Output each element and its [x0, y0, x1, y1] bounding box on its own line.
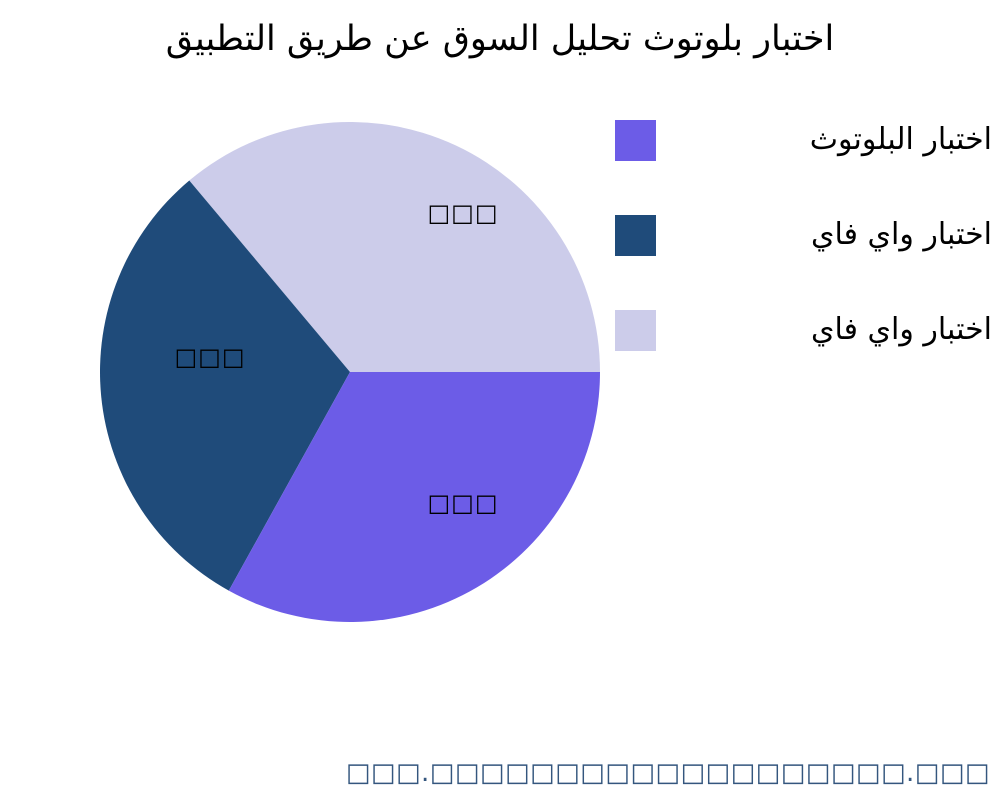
- legend-swatch-icon-0: [615, 120, 656, 161]
- legend-label-1: اختبار واي فاي: [674, 207, 992, 263]
- legend-item-1[interactable]: اختبار واي فاي: [612, 207, 992, 302]
- chart-figure: اختبار بلوتوث تحليل السوق عن طريق التطبي…: [0, 0, 1000, 800]
- legend-label-2: اختبار واي فاي: [674, 302, 992, 358]
- legend-item-2[interactable]: اختبار واي فاي: [612, 302, 992, 397]
- pie-chart: [100, 122, 601, 623]
- legend-item-0[interactable]: اختبار البلوتوث: [612, 112, 992, 207]
- page-title: اختبار بلوتوث تحليل السوق عن طريق التطبي…: [0, 16, 1000, 62]
- pie-chart-svg: [100, 122, 601, 623]
- legend-label-0: اختبار البلوتوث: [674, 112, 992, 168]
- footer-watermark: □□□.□□□□□□□□□□□□□□□□□□□.□□□: [0, 756, 1000, 790]
- slice-label-purple: □□□: [427, 491, 498, 515]
- slice-label-dark-blue: □□□: [174, 345, 245, 369]
- legend-swatch-icon-2: [615, 310, 656, 351]
- slice-label-lavender: □□□: [427, 201, 498, 225]
- legend-swatch-icon-1: [615, 215, 656, 256]
- legend: اختبار البلوتوث اختبار واي فاي اختبار وا…: [612, 112, 992, 397]
